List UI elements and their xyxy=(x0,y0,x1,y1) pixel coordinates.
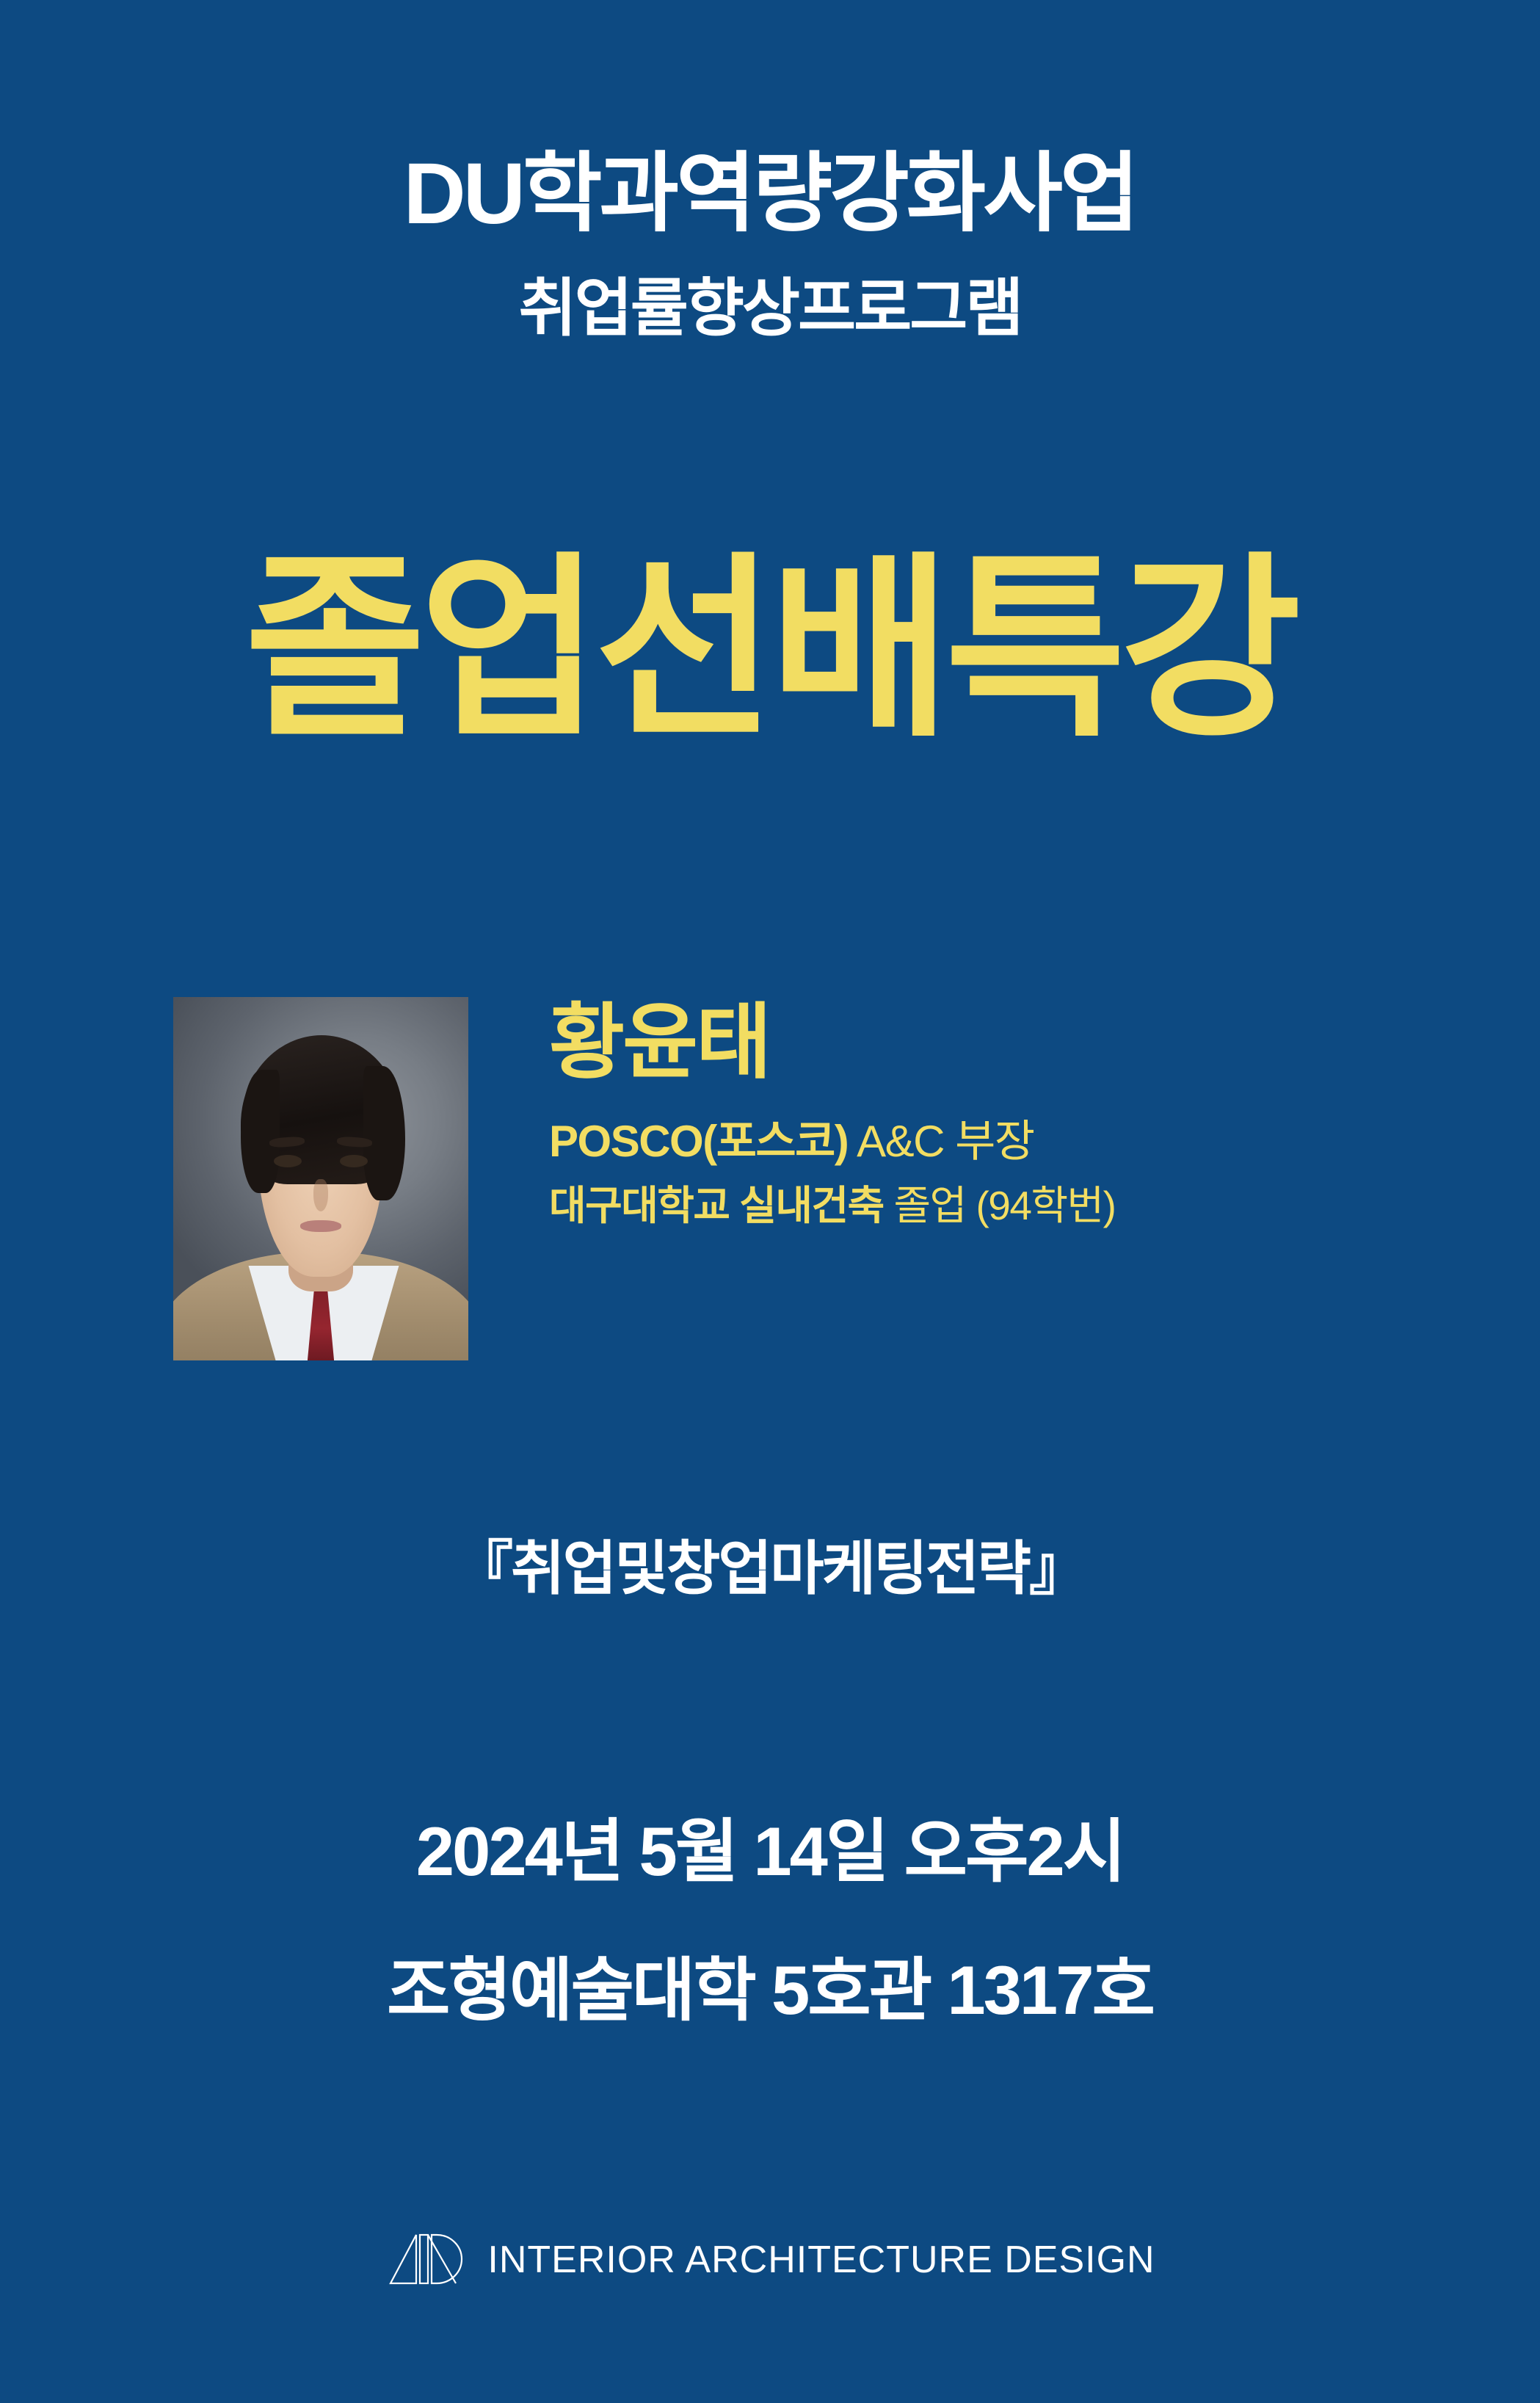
event-headline: 졸업선배특강 xyxy=(0,545,1540,753)
photo-hair-left xyxy=(241,1070,279,1193)
speaker-block: 황윤태 POSCO(포스코) A&C 부장 대구대학교 실내건축 졸업 (94학… xyxy=(173,997,1392,1360)
lecture-topic: 『취업및창업마케팅전략』 xyxy=(0,1521,1540,1606)
speaker-school-major: 대구대학교 실내건축 xyxy=(549,1183,884,1228)
program-title: DU학과역량강화사업 xyxy=(0,144,1540,244)
speaker-education: 대구대학교 실내건축 졸업 (94학번) xyxy=(549,1184,1392,1228)
speaker-details: 황윤태 POSCO(포스코) A&C 부장 대구대학교 실내건축 졸업 (94학… xyxy=(468,997,1392,1228)
photo-nose xyxy=(313,1179,328,1212)
photo-mouth xyxy=(300,1220,341,1232)
speaker-name: 황윤태 xyxy=(549,1001,1392,1084)
speaker-graduation: 졸업 (94학번) xyxy=(893,1183,1115,1228)
photo-eye-left xyxy=(274,1155,302,1167)
poster-canvas: DU학과역량강화사업 취업률향상프로그램 졸업선배특강 황윤태 xyxy=(0,0,1540,2403)
footer-block: INTERIOR ARCHITECTURE DESIGN xyxy=(0,2232,1540,2288)
header-block: DU학과역량강화사업 취업률향상프로그램 xyxy=(0,144,1540,347)
event-venue: 조형예술대학 5호관 1317호 xyxy=(0,1952,1540,2028)
program-subtitle: 취업률향상프로그램 xyxy=(0,271,1540,347)
speaker-photo xyxy=(173,997,468,1360)
speaker-company: POSCO(포스코) xyxy=(549,1117,848,1166)
iad-logo-icon xyxy=(385,2232,467,2288)
speaker-role: POSCO(포스코) A&C 부장 xyxy=(549,1117,1392,1166)
photo-eye-right xyxy=(340,1155,368,1167)
department-name: INTERIOR ARCHITECTURE DESIGN xyxy=(487,2238,1155,2282)
speaker-position: A&C 부장 xyxy=(857,1117,1034,1166)
schedule-block: 2024년 5월 14일 오후2시 조형예술대학 5호관 1317호 xyxy=(0,1813,1540,2029)
event-datetime: 2024년 5월 14일 오후2시 xyxy=(0,1813,1540,1889)
